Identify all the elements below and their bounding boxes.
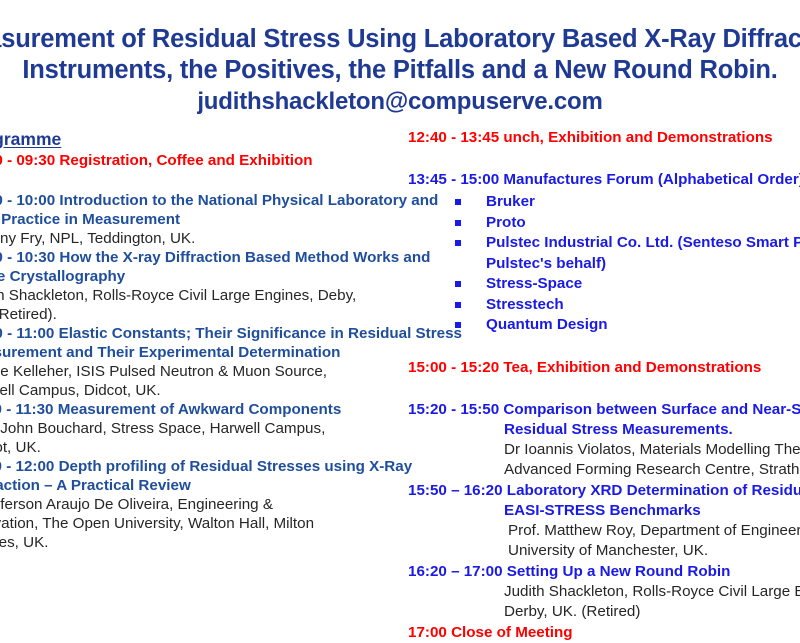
schedule-speaker-bouchard-1: Prof. John Bouchard, Stress Space, Harwe…	[0, 419, 384, 438]
title-line-1: Measurement of Residual Stress Using Lab…	[0, 24, 800, 55]
square-bullet-icon	[455, 220, 461, 226]
programme-left-column: Programme 09:00 - 09:30 Registration, Co…	[0, 128, 384, 552]
square-bullet-icon	[455, 199, 461, 205]
programme-section-heading: Programme	[0, 128, 384, 150]
schedule-speaker-oliveira-3: Keynes, UK.	[0, 533, 384, 552]
list-item-label: Stress-Space	[486, 275, 582, 292]
square-bullet-icon	[455, 302, 461, 308]
schedule-speaker-shackleton-rr-1: Judith Shackleton, Rolls-Royce Civil Lar…	[408, 582, 800, 603]
schedule-speaker-shackleton-1: Judith Shackleton, Rolls-Royce Civil Lar…	[0, 286, 384, 305]
spacer	[408, 336, 800, 358]
schedule-head-manufacturers-forum: 13:45 - 15:00 Manufactures Forum (Alphab…	[408, 170, 800, 190]
spacer	[408, 378, 800, 400]
schedule-head-round-robin: 16:20 – 17:00 Setting Up a New Round Rob…	[408, 562, 800, 582]
schedule-break-registration: 09:00 - 09:30 Registration, Coffee and E…	[0, 151, 384, 171]
list-item-label: Pulstec Industrial Co. Ltd. (Senteso Sma…	[486, 234, 800, 251]
schedule-speaker-kelleher-1: Dr Joe Kelleher, ISIS Pulsed Neutron & M…	[0, 362, 384, 381]
schedule-speaker-roy-1: Prof. Matthew Roy, Department of Enginee…	[408, 521, 800, 542]
list-item-label: Stresstech	[486, 296, 564, 313]
list-item-label: Proto	[486, 214, 526, 231]
square-bullet-icon	[455, 322, 461, 328]
list-item-label: Bruker	[486, 193, 535, 210]
spacer	[0, 171, 384, 191]
programme-columns: Programme 09:00 - 09:30 Registration, Co…	[0, 128, 800, 600]
schedule-head-depth-1: 11:30 - 12:00 Depth profiling of Residua…	[0, 457, 384, 476]
manufacturers-forum-list: Bruker Proto Pulstec Industrial Co. Ltd.…	[408, 192, 800, 336]
schedule-close-of-meeting: 17:00 Close of Meeting	[408, 623, 800, 643]
schedule-head-comparison-1: 15:20 - 15:50 Comparison between Surface…	[408, 400, 800, 420]
list-item: Bruker	[408, 192, 800, 213]
schedule-head-easistress-1: 15:50 – 16:20 Laboratory XRD Determinati…	[408, 481, 800, 501]
schedule-head-comparison-2: Residual Stress Measurements.	[408, 420, 800, 440]
schedule-speaker-oliveira-1: Dr Jeferson Araujo De Oliveira, Engineer…	[0, 495, 384, 514]
schedule-speaker-bouchard-2: Didcot, UK.	[0, 438, 384, 457]
schedule-speaker-shackleton-rr-2: Derby, UK. (Retired)	[408, 602, 800, 623]
schedule-speaker-kelleher-2: Harwell Campus, Didcot, UK.	[0, 381, 384, 400]
schedule-head-depth-2: Diffraction – A Practical Review	[0, 476, 384, 495]
schedule-head-xrd-1: 10:00 - 10:30 How the X-ray Diffraction …	[0, 248, 384, 267]
title-line-2: Instruments, the Positives, the Pitfalls…	[0, 55, 800, 86]
programme-right-column: 12:40 - 13:45 unch, Exhibition and Demon…	[408, 128, 800, 643]
schedule-speaker-oliveira-2: Innovation, The Open University, Walton …	[0, 514, 384, 533]
schedule-speaker-violatos-2: Advanced Forming Research Centre, Strath…	[408, 460, 800, 481]
list-item: Stress-Space	[408, 274, 800, 295]
schedule-speaker-fry: Dr Tony Fry, NPL, Teddington, UK.	[0, 229, 384, 248]
schedule-break-tea: 15:00 - 15:20 Tea, Exhibition and Demons…	[408, 358, 800, 378]
square-bullet-icon	[455, 240, 461, 246]
list-item-label-continuation: Pulstec's behalf)	[486, 254, 800, 275]
schedule-head-npl-1: 09:30 - 10:00 Introduction to the Nation…	[0, 191, 384, 210]
list-item: Proto	[408, 213, 800, 234]
list-item: Pulstec Industrial Co. Ltd. (Senteso Sma…	[408, 233, 800, 274]
list-item: Stresstech	[408, 295, 800, 316]
contact-email: judithshackleton@compuserve.com	[0, 86, 800, 118]
schedule-head-elastic-2: Measurement and Their Experimental Deter…	[0, 343, 384, 362]
slide-title-block: Measurement of Residual Stress Using Lab…	[0, 24, 800, 118]
schedule-head-awkward: 11:00 - 11:30 Measurement of Awkward Com…	[0, 400, 384, 419]
schedule-break-lunch: 12:40 - 13:45 unch, Exhibition and Demon…	[408, 128, 800, 148]
schedule-head-npl-2: Best Practice in Measurement	[0, 210, 384, 229]
schedule-head-elastic-1: 10:30 - 11:00 Elastic Constants; Their S…	[0, 324, 384, 343]
list-item-label: Quantum Design	[486, 316, 608, 333]
spacer	[408, 148, 800, 170]
square-bullet-icon	[455, 281, 461, 287]
schedule-head-xrd-2: Some Crystallography	[0, 267, 384, 286]
schedule-head-easistress-2: EASI-STRESS Benchmarks	[408, 501, 800, 521]
list-item: Quantum Design	[408, 315, 800, 336]
schedule-speaker-shackleton-2: UK. (Retired).	[0, 305, 384, 324]
schedule-speaker-roy-2: University of Manchester, UK.	[408, 541, 800, 562]
schedule-speaker-violatos-1: Dr Ioannis Violatos, Materials Modelling…	[408, 440, 800, 461]
